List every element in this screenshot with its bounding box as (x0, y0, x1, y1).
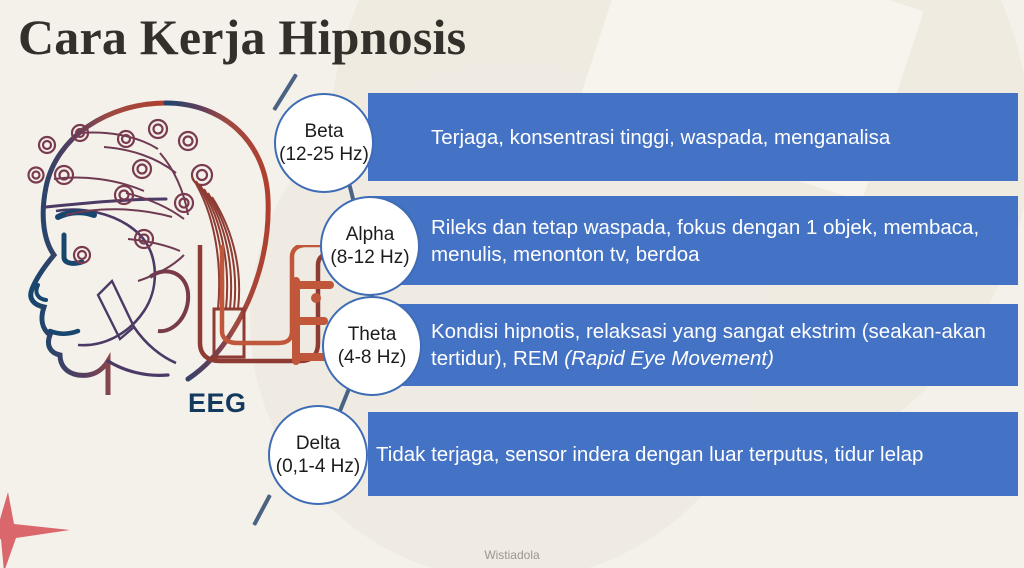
wave-range-beta: (12-25 Hz) (279, 143, 369, 166)
wave-node-beta[interactable]: Beta (12-25 Hz) (274, 93, 374, 193)
wave-bar-theta: Kondisi hipnotis, relaksasi yang sangat … (368, 304, 1018, 386)
wave-description-alpha: Rileks dan tetap waspada, fokus dengan 1… (368, 214, 1018, 268)
wave-range-alpha: (8-12 Hz) (330, 246, 409, 269)
wave-name-beta: Beta (304, 120, 343, 143)
page-title: Cara Kerja Hipnosis (18, 8, 466, 66)
wave-node-delta[interactable]: Delta (0,1-4 Hz) (268, 405, 368, 505)
watermark: Wistiadola (0, 548, 1024, 562)
connector-bottom (252, 494, 271, 526)
wave-bar-beta: Terjaga, konsentrasi tinggi, waspada, me… (368, 93, 1018, 181)
wave-range-delta: (0,1-4 Hz) (276, 455, 360, 478)
wave-node-theta[interactable]: Theta (4-8 Hz) (322, 296, 422, 396)
wave-name-alpha: Alpha (346, 223, 395, 246)
wave-name-delta: Delta (296, 432, 340, 455)
wave-name-theta: Theta (348, 323, 397, 346)
wave-description-beta: Terjaga, konsentrasi tinggi, waspada, me… (368, 124, 900, 151)
wave-description-theta: Kondisi hipnotis, relaksasi yang sangat … (368, 318, 1018, 372)
eeg-caption: EEG (188, 388, 247, 419)
slide-canvas: Cara Kerja Hipnosis (0, 0, 1024, 568)
wave-bar-delta: Tidak terjaga, sensor indera dengan luar… (368, 412, 1018, 496)
wave-bar-alpha: Rileks dan tetap waspada, fokus dengan 1… (368, 196, 1018, 285)
wave-description-delta: Tidak terjaga, sensor indera dengan luar… (368, 441, 933, 468)
wave-node-alpha[interactable]: Alpha (8-12 Hz) (320, 196, 420, 296)
wave-range-theta: (4-8 Hz) (338, 346, 407, 369)
